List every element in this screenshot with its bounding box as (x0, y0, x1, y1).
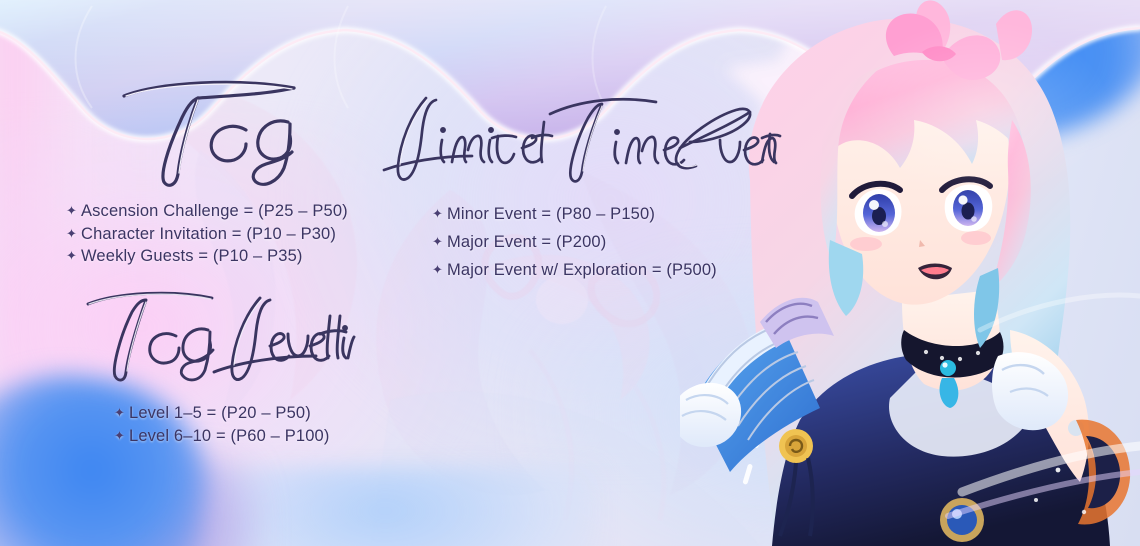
list-item-label: Major Event = (P200) (447, 233, 606, 251)
sparkle-icon: ✦ (66, 200, 81, 222)
sparkle-icon: ✦ (114, 402, 129, 424)
sparkle-icon: ✦ (66, 223, 81, 245)
list-tcg-levelling: ✦Level 1–5 = (P20 – P50) ✦Level 6–10 = (… (114, 402, 330, 447)
sparkle-icon: ✦ (432, 200, 447, 228)
list-item-label: Major Event w/ Exploration = (P500) (447, 261, 717, 279)
list-item-label: Minor Event = (P80 – P150) (447, 205, 655, 223)
section-title-tcg (118, 78, 308, 188)
list-item: ✦Character Invitation = (P10 – P30) (66, 223, 348, 246)
sparkle-icon: ✦ (114, 425, 129, 447)
list-item: ✦Level 6–10 = (P60 – P100) (114, 425, 330, 448)
list-item-label: Character Invitation = (P10 – P30) (81, 225, 336, 243)
list-item-label: Level 6–10 = (P60 – P100) (129, 427, 330, 445)
list-item-label: Level 1–5 = (P20 – P50) (129, 404, 311, 422)
sparkle-icon: ✦ (432, 256, 447, 284)
banner-canvas: ✦Ascension Challenge = (P25 – P50) ✦Char… (0, 0, 1140, 546)
list-item: ✦Level 1–5 = (P20 – P50) (114, 402, 330, 425)
character-illustration (680, 0, 1140, 546)
section-title-tcg-levelling (84, 290, 354, 382)
section-title-limited-time-events (380, 92, 780, 184)
list-tcg: ✦Ascension Challenge = (P25 – P50) ✦Char… (66, 200, 348, 268)
sparkle-icon: ✦ (432, 228, 447, 256)
list-item: ✦Major Event w/ Exploration = (P500) (432, 256, 717, 284)
list-item-label: Ascension Challenge = (P25 – P50) (81, 202, 348, 220)
sparkle-icon: ✦ (66, 245, 81, 267)
list-item-label: Weekly Guests = (P10 – P35) (81, 247, 303, 265)
list-item: ✦Major Event = (P200) (432, 228, 717, 256)
list-item: ✦Weekly Guests = (P10 – P35) (66, 245, 348, 268)
list-item: ✦Ascension Challenge = (P25 – P50) (66, 200, 348, 223)
list-limited-time-events: ✦Minor Event = (P80 – P150) ✦Major Event… (432, 200, 717, 284)
list-item: ✦Minor Event = (P80 – P150) (432, 200, 717, 228)
